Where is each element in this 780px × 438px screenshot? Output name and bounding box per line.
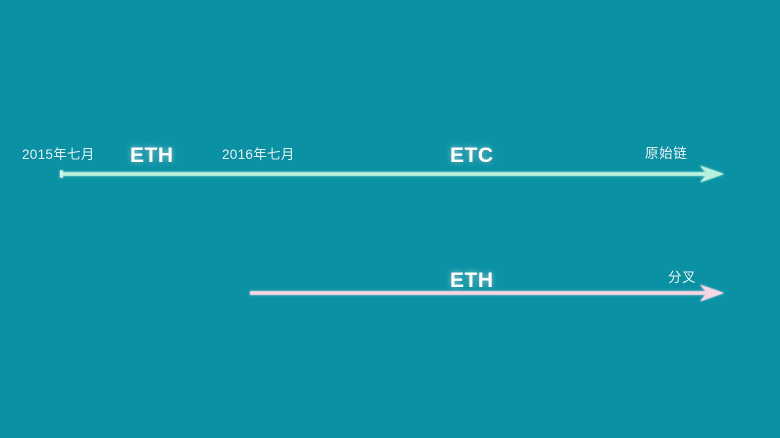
post-fork-coin-label-etc: ETC	[450, 145, 494, 166]
original-chain-start-cap	[60, 170, 63, 177]
original-chain-arrow	[60, 166, 724, 183]
pre-fork-coin-label-eth: ETH	[130, 145, 174, 166]
original-chain-start-date-label: 2015年七月	[22, 148, 95, 162]
fork-chain-end-tag-label: 分叉	[668, 271, 696, 285]
original-chain-end-tag-label: 原始链	[645, 147, 687, 161]
fork-chain-coin-label-eth: ETH	[450, 270, 494, 291]
fork-timeline-diagram: 2015年七月 ETH 2016年七月 ETC 原始链 ETH 分叉	[0, 0, 780, 438]
timeline-graphics	[0, 0, 780, 438]
fork-date-label: 2016年七月	[222, 148, 295, 162]
